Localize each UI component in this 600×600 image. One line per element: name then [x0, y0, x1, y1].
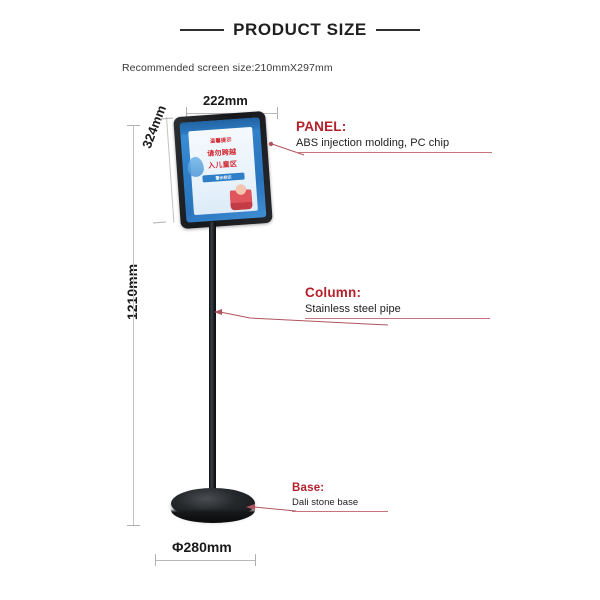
product-size-spec-sheet: PRODUCT SIZE Recommended screen size:210…	[0, 0, 600, 600]
poster-heading: 温馨提示	[189, 135, 253, 146]
poster-swoosh-decoration	[187, 156, 204, 177]
poster-artwork: 温馨提示 请勿跨越 入儿童区 警示标识	[188, 127, 258, 215]
title-rule-right	[376, 29, 420, 31]
base-diameter-dim-line	[155, 560, 255, 561]
panel-width-label: 222mm	[203, 93, 248, 108]
callout-base-heading: Base:	[292, 482, 388, 494]
display-panel: 温馨提示 请勿跨越 入儿童区 警示标识	[173, 111, 273, 229]
stand-column	[209, 222, 216, 501]
panel-width-tick-right	[277, 107, 278, 119]
panel-screen: 温馨提示 请勿跨越 入儿童区 警示标识	[180, 117, 267, 222]
base-diameter-tick-right	[255, 554, 256, 566]
callout-column: Column: Stainless steel pipe	[305, 285, 490, 319]
callout-base: Base: Dali stone base	[292, 482, 388, 512]
callout-column-heading: Column:	[305, 285, 490, 300]
page-title-row: PRODUCT SIZE	[0, 20, 600, 40]
panel-height-label: 324mm	[139, 103, 169, 150]
callout-column-description: Stainless steel pipe	[305, 303, 490, 318]
recommended-screen-size-note: Recommended screen size:210mmX297mm	[122, 62, 333, 74]
total-height-dim-line	[133, 125, 134, 525]
title-rule-left	[180, 29, 224, 31]
poster-badge: 警示标识	[202, 173, 244, 183]
page-title: PRODUCT SIZE	[233, 20, 367, 40]
callout-base-underline	[292, 511, 388, 512]
base-diameter-label: Φ280mm	[172, 539, 232, 555]
base-diameter-tick-left	[155, 554, 156, 566]
callout-column-underline	[305, 318, 490, 319]
callout-panel-underline	[296, 152, 492, 153]
poster-child-figure	[229, 183, 253, 210]
callout-panel-heading: PANEL:	[296, 119, 492, 134]
base-leader-line	[236, 500, 298, 516]
total-height-tick-bottom	[127, 525, 140, 526]
callout-panel-description: ABS injection molding, PC chip	[296, 137, 492, 152]
callout-base-description: Dali stone base	[292, 497, 388, 511]
panel-height-tick-bottom	[153, 222, 166, 224]
total-height-tick-top	[127, 125, 140, 126]
panel-height-dim-line	[166, 117, 174, 223]
callout-panel: PANEL: ABS injection molding, PC chip	[296, 119, 492, 153]
